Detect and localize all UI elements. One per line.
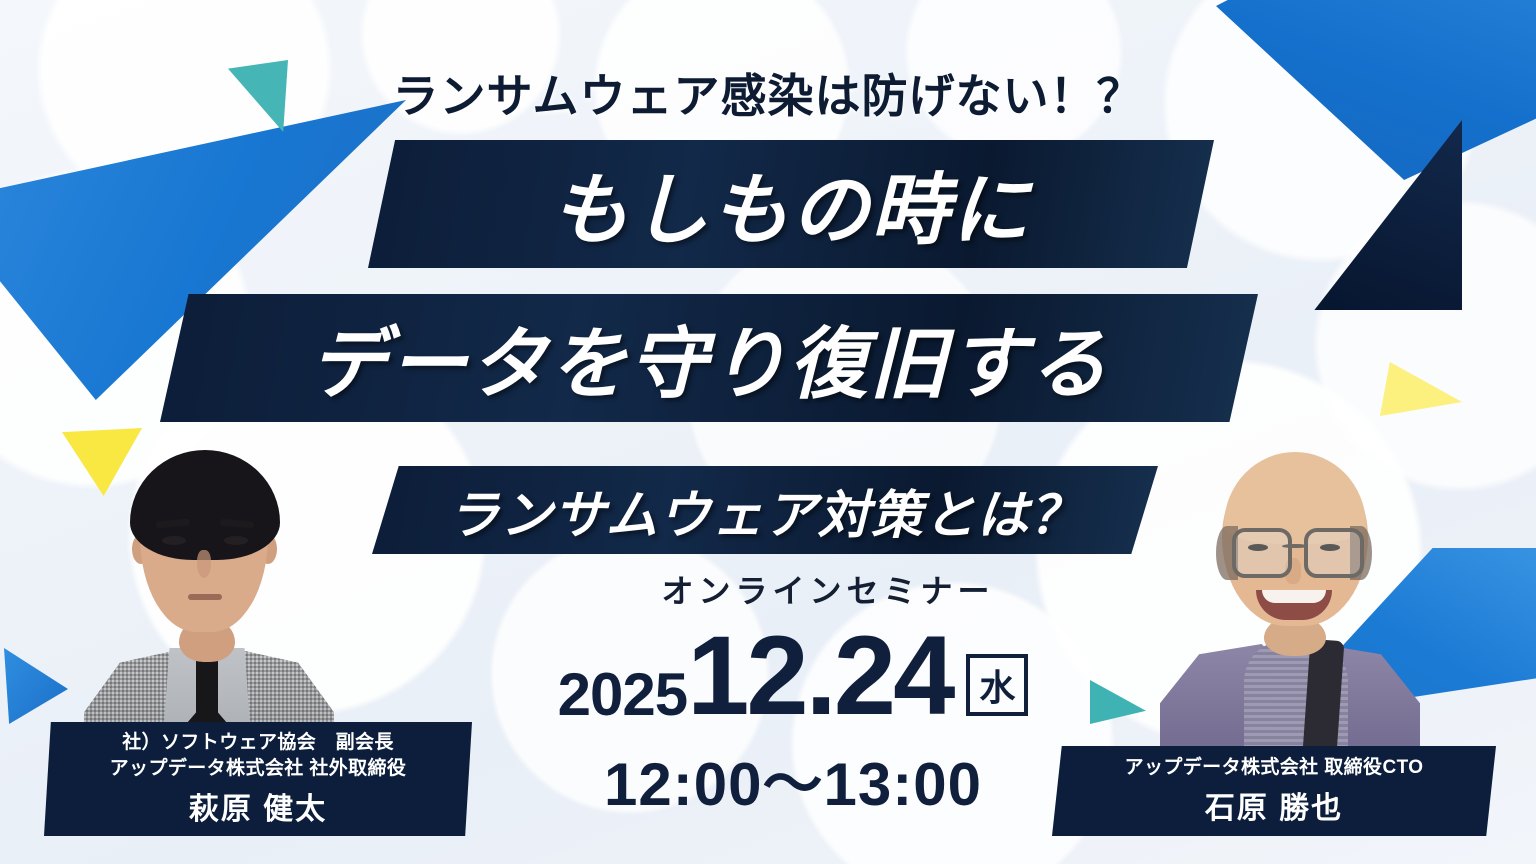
event-weekday: 水 (966, 654, 1028, 716)
speaker-left-role-2: アップデータ株式会社 社外取締役 (44, 756, 472, 781)
webinar-banner: ランサムウェア感染は防げない！？ もしもの時に データを守り復旧する ランサムウ… (0, 0, 1536, 864)
speaker-left-role-1: 社）ソフトウェア協会 副会長 (44, 730, 472, 755)
title-band-2-text: データを守り復旧する (309, 302, 1109, 414)
title-band-1-text: もしもの時に (551, 148, 1031, 260)
glasses-bridge (1282, 544, 1308, 548)
title-band-3-text: ランサムウェア対策とは？ (448, 473, 1083, 548)
event-format-label: オンラインセミナー (0, 566, 1536, 612)
title-band-2: データを守り復旧する (160, 294, 1258, 422)
speaker-plate-left: 社）ソフトウェア協会 副会長 アップデータ株式会社 社外取締役 萩原 健太 (44, 722, 472, 836)
kicker-headline: ランサムウェア感染は防げない！？ (0, 60, 1536, 126)
left-speaker-eye-left (162, 536, 186, 545)
event-year: 2025 (558, 667, 687, 722)
event-day: 12.24 (687, 630, 952, 722)
title-band-1: もしもの時に (368, 140, 1214, 268)
yellow-triangle-right (1380, 362, 1462, 416)
title-band-3: ランサムウェア対策とは？ (372, 466, 1158, 554)
speaker-plate-right: アップデータ株式会社 取締役CTO 石原 勝也 (1052, 746, 1496, 836)
speaker-right-name: 石原 勝也 (1052, 783, 1496, 827)
speaker-left-name: 萩原 健太 (44, 784, 472, 828)
speaker-right-role-1: アップデータ株式会社 取締役CTO (1052, 755, 1496, 780)
left-speaker-eye-right (224, 536, 248, 545)
event-date: 2025 12.24 水 (0, 630, 1536, 722)
left-speaker-hair (130, 450, 280, 560)
